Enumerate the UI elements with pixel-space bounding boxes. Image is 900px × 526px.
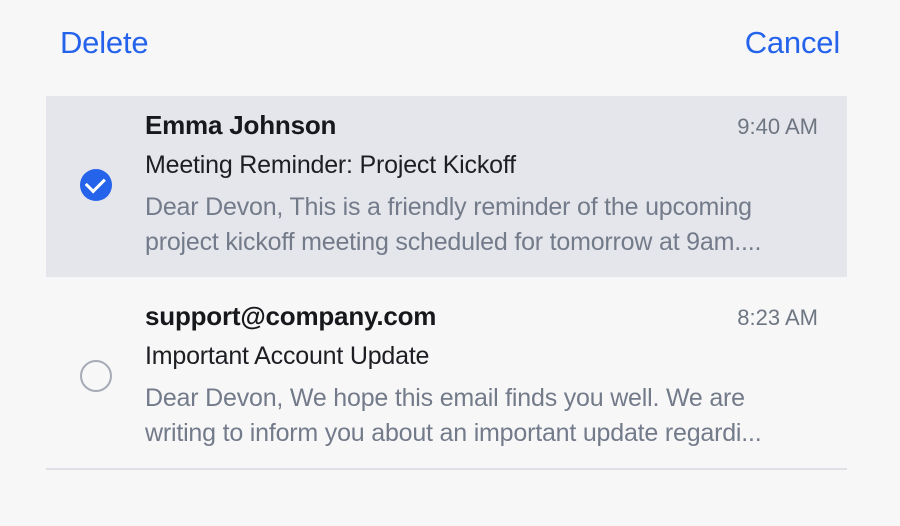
email-subject: Important Account Update <box>145 342 818 371</box>
email-sender: Emma Johnson <box>145 110 336 141</box>
toolbar: Delete Cancel <box>0 0 900 84</box>
email-content: support@company.com 8:23 AM Important Ac… <box>145 301 847 450</box>
selection-control[interactable] <box>46 169 145 201</box>
list-divider <box>46 468 847 470</box>
circle-outline-icon[interactable] <box>80 360 112 392</box>
check-circle-filled-icon[interactable] <box>80 169 112 201</box>
email-header-row: Emma Johnson 9:40 AM <box>145 110 818 141</box>
email-subject: Meeting Reminder: Project Kickoff <box>145 151 818 180</box>
cancel-button[interactable]: Cancel <box>745 27 840 58</box>
email-list-item[interactable]: support@company.com 8:23 AM Important Ac… <box>46 287 847 468</box>
email-header-row: support@company.com 8:23 AM <box>145 301 818 332</box>
email-sender: support@company.com <box>145 301 436 332</box>
email-timestamp: 8:23 AM <box>737 305 818 331</box>
email-timestamp: 9:40 AM <box>737 114 818 140</box>
delete-button[interactable]: Delete <box>60 27 148 58</box>
row-gap <box>0 277 900 287</box>
email-preview: Dear Devon, This is a friendly reminder … <box>145 190 818 259</box>
email-selection-screen: Delete Cancel Emma Johnson 9:40 AM Meeti… <box>0 0 900 526</box>
email-content: Emma Johnson 9:40 AM Meeting Reminder: P… <box>145 110 847 259</box>
checkmark-icon <box>84 172 105 193</box>
email-list: Emma Johnson 9:40 AM Meeting Reminder: P… <box>0 96 900 470</box>
email-list-item[interactable]: Emma Johnson 9:40 AM Meeting Reminder: P… <box>46 96 847 277</box>
selection-control[interactable] <box>46 360 145 392</box>
email-preview: Dear Devon, We hope this email finds you… <box>145 381 818 450</box>
